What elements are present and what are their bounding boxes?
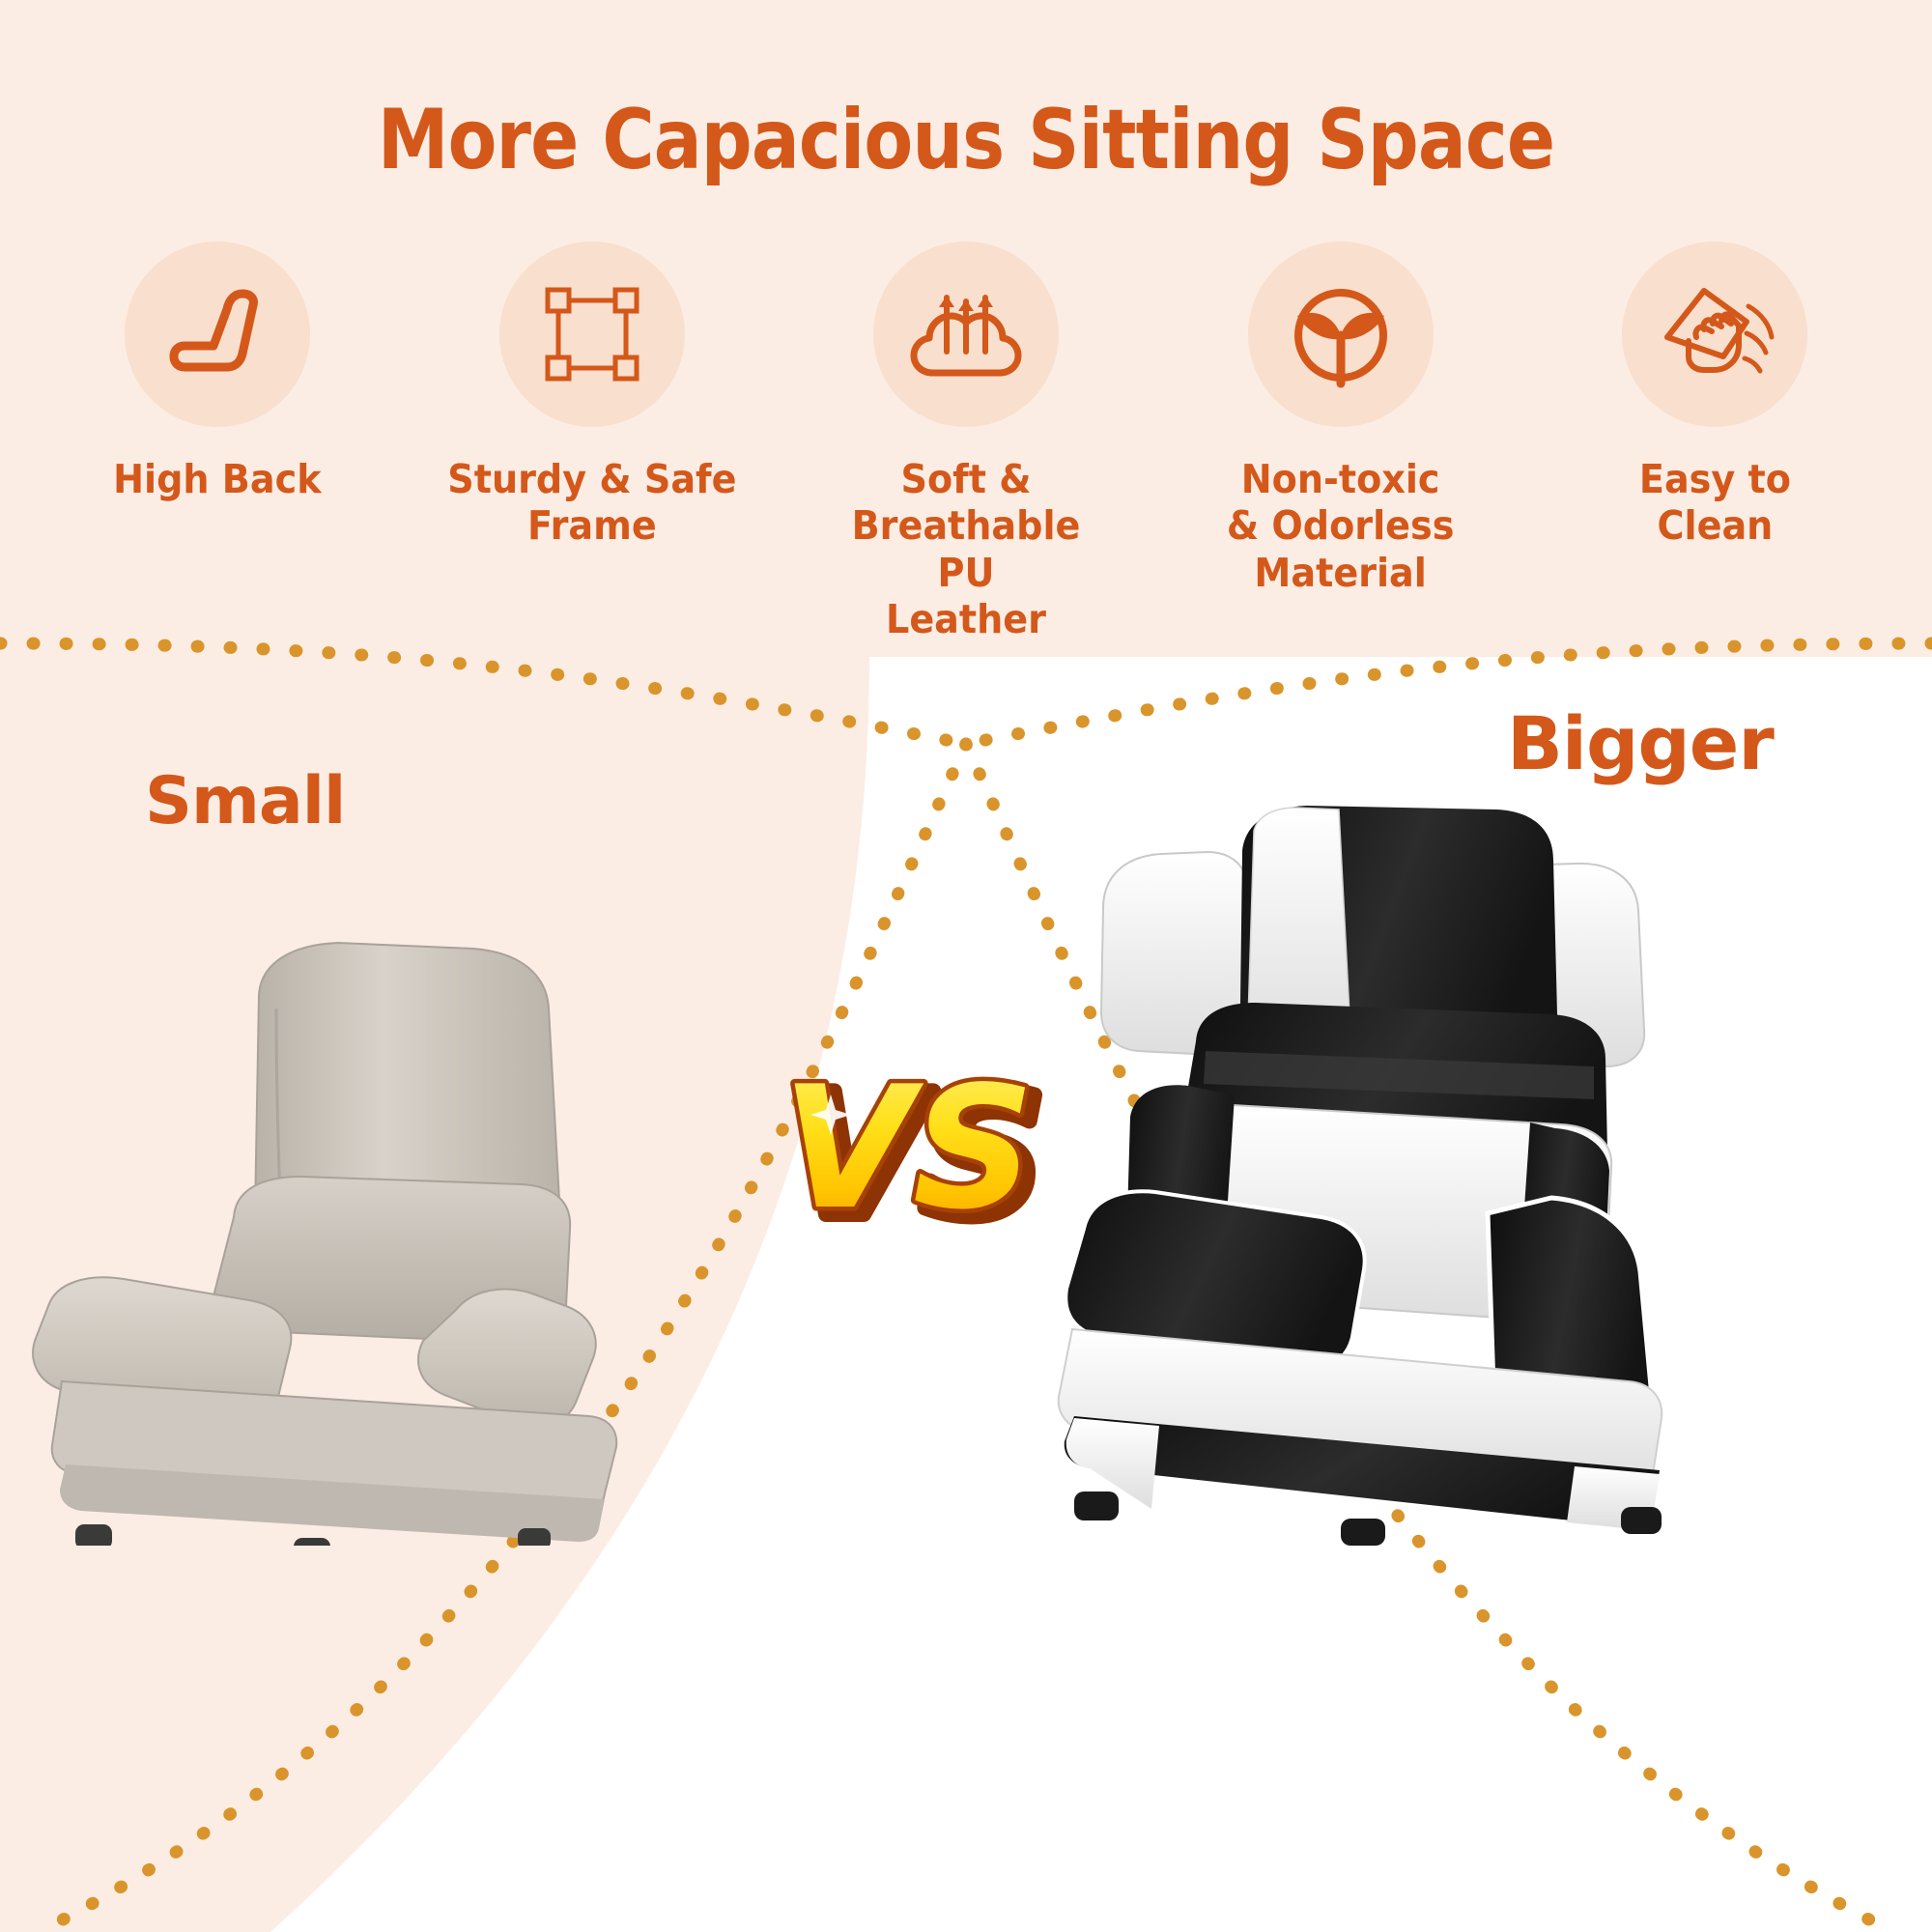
small-recliner-svg bbox=[19, 927, 657, 1546]
feature-icon-circle bbox=[499, 241, 685, 427]
bigger-label: Bigger bbox=[1507, 700, 1774, 786]
bigger-gaming-recliner-svg bbox=[1014, 792, 1777, 1546]
feature-item-non-toxic: Non-toxic& OdorlessMaterial bbox=[1181, 241, 1500, 596]
leg-back-right bbox=[518, 1528, 551, 1546]
divider-dots-right bbox=[966, 643, 1932, 744]
feature-item-easy-clean: Easy toClean bbox=[1555, 241, 1874, 550]
leg-front-left bbox=[75, 1524, 112, 1546]
breathable-cloud-arrows-icon bbox=[904, 276, 1028, 392]
leg-front-right bbox=[1341, 1519, 1385, 1546]
feature-item-high-back: High Back bbox=[58, 241, 377, 502]
bigger-gaming-recliner-image bbox=[1014, 792, 1777, 1546]
feature-label: Soft &Breathable PULeather bbox=[818, 456, 1115, 643]
leg-front-right bbox=[294, 1538, 330, 1546]
feature-label: Sturdy & SafeFrame bbox=[447, 456, 736, 550]
eco-leaf-sprout-icon bbox=[1282, 275, 1400, 393]
seat-backrest-icon bbox=[159, 276, 275, 392]
feature-list: High Back bbox=[58, 241, 1874, 643]
leg-front-left bbox=[1074, 1492, 1119, 1520]
feature-label: Easy toClean bbox=[1638, 456, 1790, 550]
versus-badge: VS VS bbox=[763, 1048, 1082, 1261]
feature-item-breathable-pu: Soft &Breathable PULeather bbox=[807, 241, 1125, 643]
feature-icon-circle bbox=[1248, 241, 1434, 427]
feature-label: High Back bbox=[113, 456, 321, 502]
versus-text: VS bbox=[781, 1051, 1034, 1247]
feature-label: Non-toxic& OdorlessMaterial bbox=[1227, 456, 1455, 596]
leg-back-right bbox=[1621, 1507, 1662, 1534]
hand-wipe-cloth-icon bbox=[1654, 277, 1776, 391]
frame-corners-icon bbox=[534, 276, 650, 392]
small-recliner-image bbox=[19, 927, 657, 1546]
feature-icon-circle bbox=[125, 241, 310, 427]
feature-icon-circle bbox=[873, 241, 1059, 427]
divider-dots-left bbox=[0, 643, 966, 744]
feature-icon-circle bbox=[1622, 241, 1807, 427]
header-band: More Capacious Sitting Space High Back bbox=[0, 0, 1932, 657]
page-title: More Capacious Sitting Space bbox=[135, 92, 1797, 188]
infographic-page: More Capacious Sitting Space High Back bbox=[0, 0, 1932, 1932]
feature-item-sturdy-frame: Sturdy & SafeFrame bbox=[433, 241, 752, 550]
versus-badge-svg: VS VS bbox=[763, 1048, 1082, 1261]
small-label: Small bbox=[145, 763, 345, 839]
